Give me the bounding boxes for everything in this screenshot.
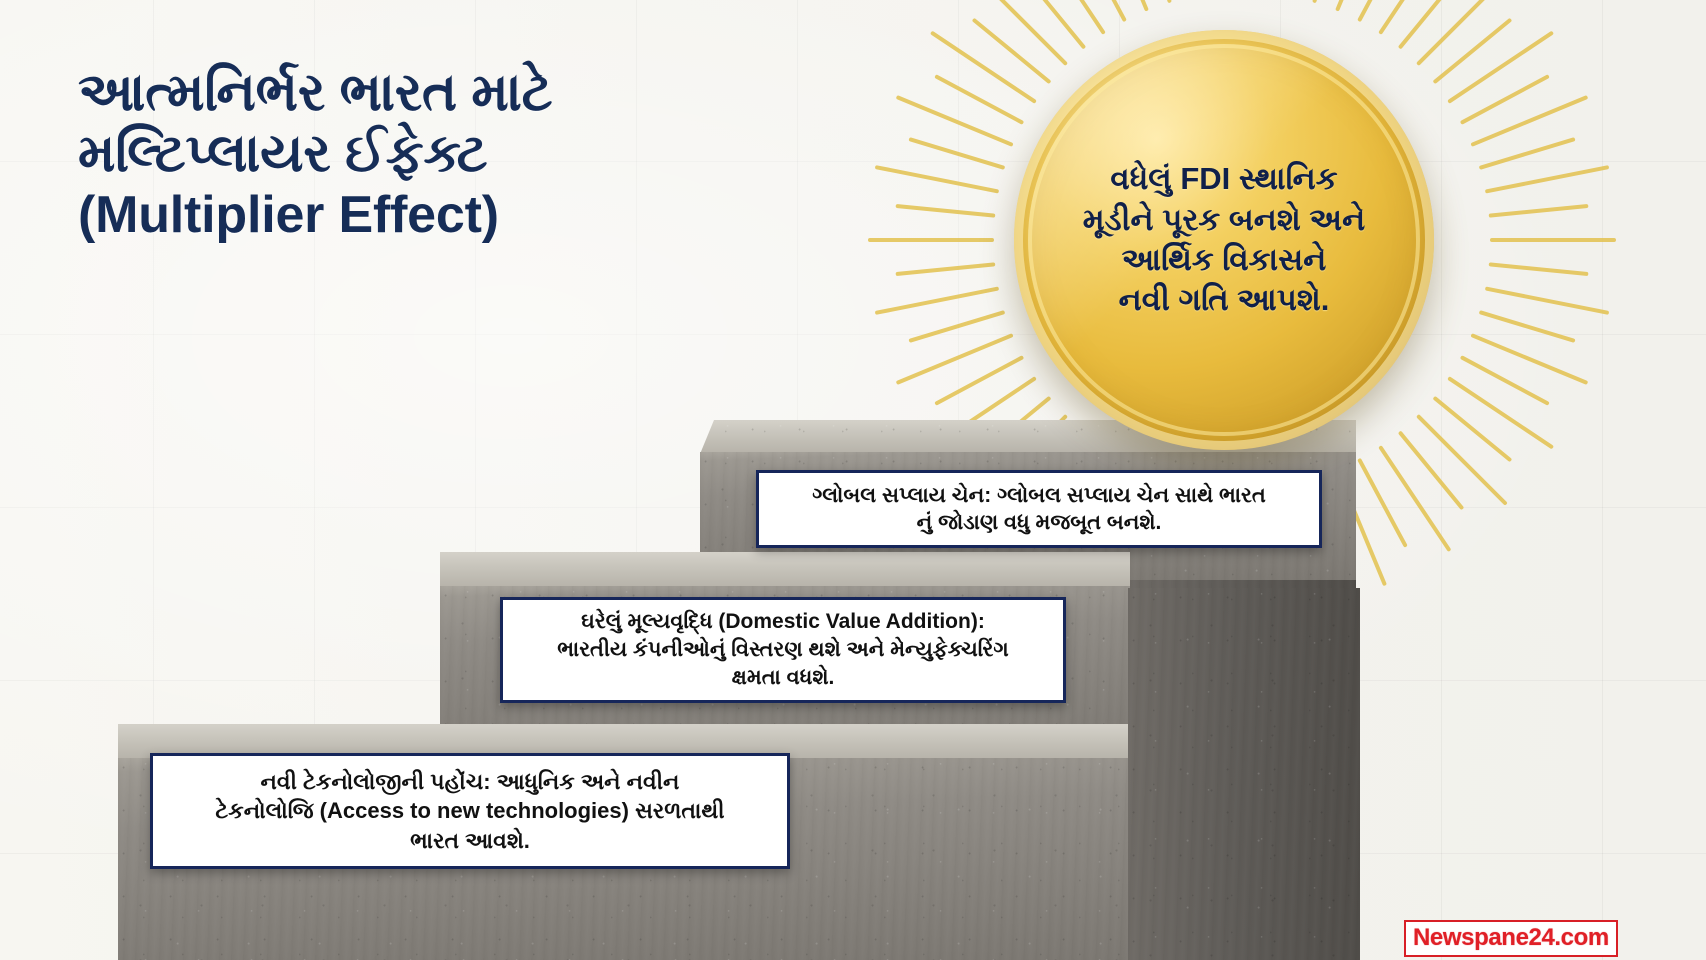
title-line-3: (Multiplier Effect) xyxy=(78,185,758,245)
callout-mid-line-1: ઘરેલું મૂલ્યવૃદ્ધિ (Domestic Value Addit… xyxy=(581,608,985,636)
medallion-text: વધેલું FDI સ્થાનિક મૂડીને પૂરક બનશે અને … xyxy=(1014,30,1434,450)
title-line-2: મલ્ટિપ્લાયર ઈફેક્ટ xyxy=(78,123,758,184)
concrete-streak-texture xyxy=(1128,588,1360,960)
medallion-line-4: નવી ગતિ આપશે. xyxy=(1119,280,1330,320)
watermark-logo: Newspane24.com xyxy=(1404,920,1618,957)
callout-bot-line-3: ભારત આવશે. xyxy=(410,826,530,855)
gold-medallion: વધેલું FDI સ્થાનિક મૂડીને પૂરક બનશે અને … xyxy=(1014,30,1434,450)
callout-top-line-1: ગ્લોબલ સપ્લાય ચેન: ગ્લોબલ સપ્લાય ચેન સાથ… xyxy=(812,482,1266,509)
medallion-line-1: વધેલું FDI સ્થાનિક xyxy=(1110,159,1337,199)
medallion-line-3: આર્થિક વિકાસને xyxy=(1122,240,1327,280)
callout-bot-line-2: ટેકનોલોજિ (Access to new technologies) સ… xyxy=(215,796,724,825)
callout-domestic-value-addition: ઘરેલું મૂલ્યવૃદ્ધિ (Domestic Value Addit… xyxy=(500,597,1066,703)
callout-mid-line-2: ભારતીય કંપનીઓનું વિસ્તરણ થશે અને મેન્યુફ… xyxy=(557,636,1008,664)
callout-mid-line-3: ક્ષમતા વધશે. xyxy=(732,664,835,692)
callout-new-technologies: નવી ટેકનોલોજીની પહોંચ: આધુનિક અને નવીન ટ… xyxy=(150,753,790,869)
callout-bot-line-1: નવી ટેકનોલોજીની પહોંચ: આધુનિક અને નવીન xyxy=(261,767,680,796)
medallion-line-2: મૂડીને પૂરક બનશે અને xyxy=(1083,200,1365,240)
callout-top-line-2: નું જોડાણ વધુ મજબૂત બનશે. xyxy=(917,509,1162,536)
title-line-1: આત્મનિર્ભર ભારત માટે xyxy=(78,62,758,123)
step-side-wall-dark xyxy=(1128,588,1360,960)
page-title: આત્મનિર્ભર ભારત માટે મલ્ટિપ્લાયર ઈફેક્ટ … xyxy=(78,62,758,245)
callout-global-supply-chain: ગ્લોબલ સપ્લાય ચેન: ગ્લોબલ સપ્લાય ચેન સાથ… xyxy=(756,470,1322,548)
